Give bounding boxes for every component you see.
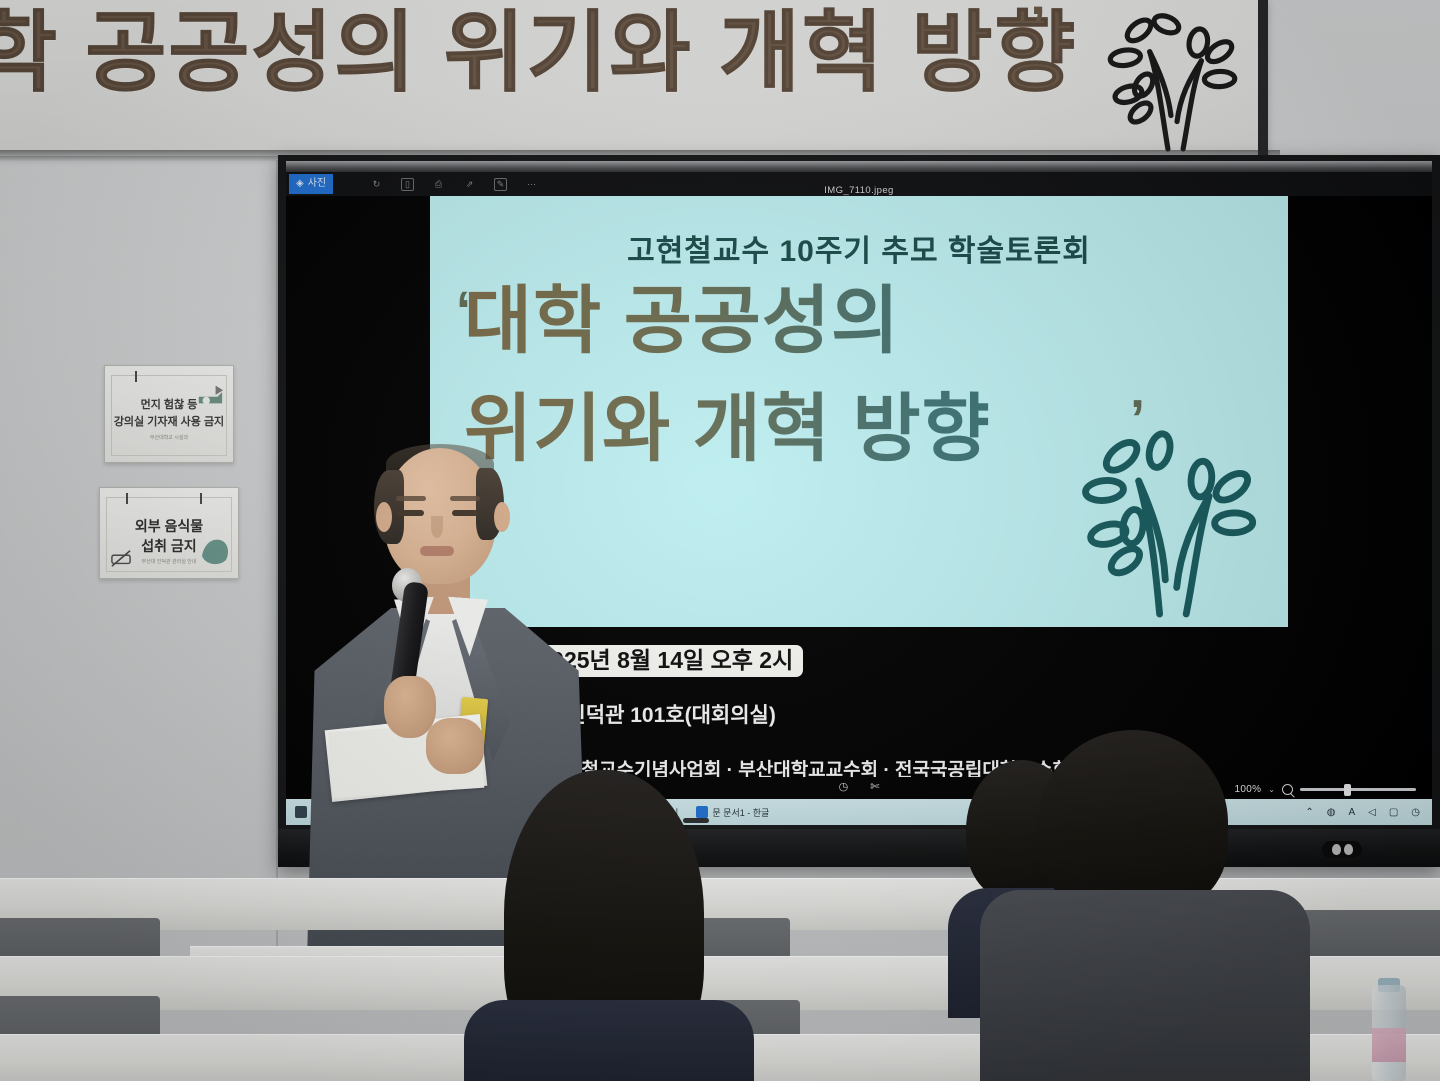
notification-icon[interactable]: ▢ xyxy=(1389,807,1398,818)
nose xyxy=(431,516,443,538)
sign-no-equipment: 먼지 험찮 등 강의실 기자재 사용 금지 부산대학교 시설과 xyxy=(104,365,234,463)
eyebrow-right xyxy=(450,496,480,501)
torso xyxy=(464,1000,754,1081)
sign-pin xyxy=(135,371,137,382)
sign-line-2: 강의실 기자재 사용 금지 xyxy=(105,413,233,429)
system-tray[interactable]: ⌃ ◍ A ◁ ▢ ◷ xyxy=(1305,807,1432,818)
photo-scene: 학 공공성의 위기와 개혁 방향 ’ 주최: ( 부 xyxy=(0,0,1440,1081)
slide-kicker-text: 고현철교수 10주기 추모 학술토론회 xyxy=(430,226,1288,270)
input-method-icon[interactable]: A xyxy=(1348,807,1355,818)
hair xyxy=(1038,730,1228,915)
ear-left xyxy=(376,502,392,532)
food-graphic-icon xyxy=(196,532,232,568)
chevron-up-icon[interactable]: ⌃ xyxy=(1305,807,1313,818)
zoom-slider-thumb[interactable] xyxy=(1344,784,1351,796)
sprout-icon xyxy=(1098,0,1250,152)
printed-backdrop-banner: 학 공공성의 위기와 개혁 방향 ’ 주최: ( 부 xyxy=(0,0,1268,156)
banner-dark-panel: 주최: ( 부 xyxy=(1258,0,1268,156)
power-button[interactable] xyxy=(1332,844,1341,855)
app-toolbar[interactable]: ◈ 사진 ↻ ▯ ⎙ ⇗ ✎ ⋯ IMG_7110.jpeg xyxy=(286,172,1432,196)
hand-holding-papers xyxy=(426,718,484,774)
sign-no-outside-food: 외부 음식물 섭취 금지 부산대 인덕관 관리실 안내 xyxy=(99,487,239,579)
projector-icon xyxy=(195,380,225,408)
sign-pin-right xyxy=(200,493,202,504)
clock-icon[interactable]: ◷ xyxy=(1411,807,1420,818)
sign-pin-left xyxy=(126,493,128,504)
banner-title: 학 공공성의 위기와 개혁 방향 xyxy=(0,0,1077,109)
mouth xyxy=(420,546,454,556)
clock-icon[interactable]: ◷ xyxy=(839,780,849,793)
bottle-label xyxy=(1372,1028,1406,1062)
audience-member-back-right xyxy=(1000,730,1290,1081)
suit-torso xyxy=(980,890,1310,1081)
display-bezel-buttons[interactable] xyxy=(1322,841,1362,858)
zoom-slider-track[interactable] xyxy=(1300,788,1416,791)
open-file-name: IMG_7110.jpeg xyxy=(286,185,1432,196)
eye-left xyxy=(398,510,424,516)
ear-right xyxy=(494,502,510,532)
network-icon[interactable]: ◍ xyxy=(1327,807,1336,818)
banner-closing-quote: ’ xyxy=(1030,0,1046,61)
app-titlebar xyxy=(286,161,1432,172)
audience-member-front-left xyxy=(486,770,726,1081)
sign-subtext: 부산대학교 시설과 xyxy=(105,434,233,441)
eye-right xyxy=(452,510,478,516)
menu-button[interactable] xyxy=(1344,844,1353,855)
sprout-icon xyxy=(1076,419,1266,619)
settings-icon[interactable]: ✄ xyxy=(870,780,879,793)
eyebrow-left xyxy=(396,496,426,501)
screen-status-icons[interactable]: ◷ ✄ xyxy=(839,780,880,793)
no-food-icon xyxy=(110,548,132,568)
slide-title-line-1: 대학 공공성의 xyxy=(464,280,1204,363)
hand-holding-microphone xyxy=(384,676,436,738)
volume-icon[interactable]: ◁ xyxy=(1368,807,1376,818)
